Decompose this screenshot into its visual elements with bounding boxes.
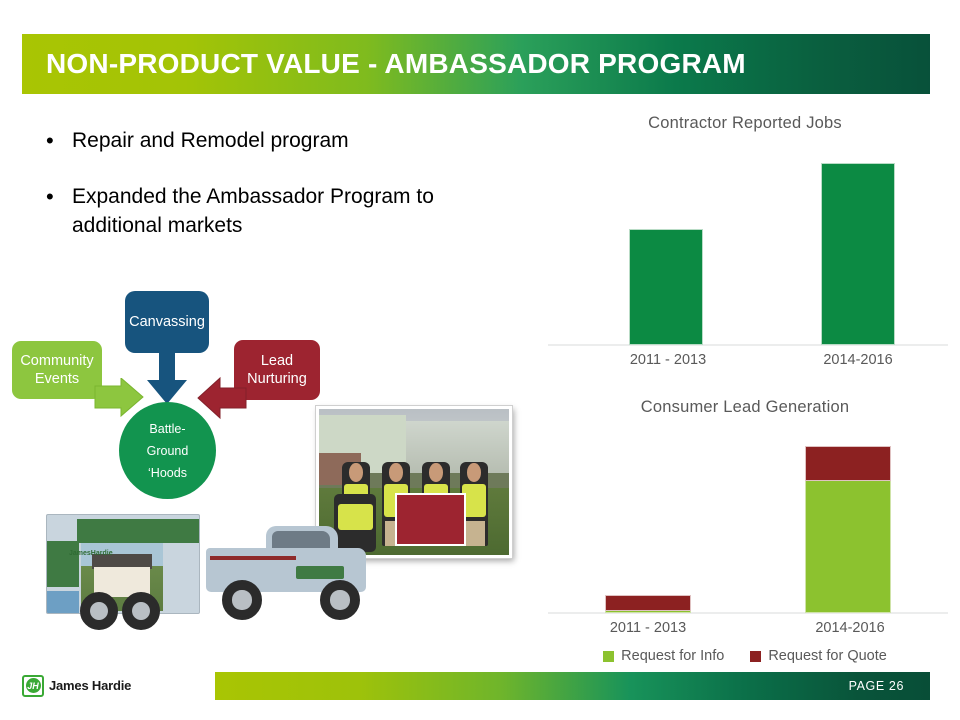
diagram-node-label: Canvassing	[129, 313, 205, 331]
chart-title: Consumer Lead Generation	[530, 398, 960, 417]
legend-item-request-for-info: Request for Info	[603, 648, 724, 664]
chart-axis-line	[548, 344, 948, 346]
center-label-line1: Battle-	[149, 418, 185, 440]
chart-axis-line	[548, 612, 948, 614]
bar-2014-2016	[822, 164, 894, 344]
slide-title-bar: NON-PRODUCT VALUE - AMBASSADOR PROGRAM	[22, 34, 930, 94]
bar-2011-2013-request-for-info	[606, 610, 690, 612]
x-tick-label: 2011 - 2013	[558, 620, 738, 636]
bullet-marker-icon: •	[40, 182, 72, 212]
bar-2011-2013-request-for-quote	[606, 596, 690, 610]
x-tick-label: 2011 - 2013	[578, 352, 758, 368]
truck-trailer-photo: JamesHardie	[38, 500, 383, 640]
legend-swatch-icon	[750, 651, 761, 662]
chart-title: Contractor Reported Jobs	[530, 114, 960, 133]
legend-label: Request for Info	[621, 648, 724, 664]
bullet-list: • Repair and Remodel program • Expanded …	[40, 126, 520, 266]
brand-name: James Hardie	[49, 678, 131, 693]
arrow-left-red-icon	[196, 376, 248, 420]
page-title: NON-PRODUCT VALUE - AMBASSADOR PROGRAM	[46, 48, 746, 80]
diagram-node-battleground-hoods: Battle- Ground ‘Hoods	[119, 402, 216, 499]
x-tick-label: 2014-2016	[760, 620, 940, 636]
chart-plot-area	[548, 146, 948, 346]
legend-label: Request for Quote	[768, 648, 887, 664]
bar-2011-2013	[630, 230, 702, 344]
list-item: • Expanded the Ambassador Program to add…	[40, 182, 520, 240]
legend-item-request-for-quote: Request for Quote	[750, 648, 887, 664]
chart-legend: Request for Info Request for Quote	[530, 648, 960, 664]
bullet-text: Repair and Remodel program	[72, 126, 349, 155]
bullet-text: Expanded the Ambassador Program to addit…	[72, 182, 520, 240]
footer-bar: PAGE 26	[215, 672, 930, 700]
chart-plot-area	[548, 428, 948, 614]
center-label-line3: ‘Hoods	[148, 462, 187, 484]
diagram-node-label: Lead Nurturing	[240, 352, 314, 388]
brand-logo: JH James Hardie	[22, 673, 131, 698]
chart-category-labels: 2011 - 2013 2014-2016	[548, 620, 948, 642]
list-item: • Repair and Remodel program	[40, 126, 520, 156]
james-hardie-mark-icon: JH	[22, 675, 44, 697]
diagram-node-label: Community Events	[18, 352, 96, 388]
legend-swatch-icon	[603, 651, 614, 662]
bullet-marker-icon: •	[40, 126, 72, 156]
chart-consumer-lead-generation: Consumer Lead Generation 2011 - 2013 201…	[530, 398, 960, 668]
diagram-node-canvassing: Canvassing	[125, 291, 209, 353]
logo-glyph: JH	[26, 678, 41, 693]
chart-contractor-reported-jobs: Contractor Reported Jobs 2011 - 2013 201…	[530, 114, 960, 374]
arrow-down-blue-icon	[143, 350, 191, 408]
x-tick-label: 2014-2016	[768, 352, 948, 368]
page-number: PAGE 26	[849, 679, 904, 693]
diagram-node-community-events: Community Events	[12, 341, 102, 399]
slide-canvas: NON-PRODUCT VALUE - AMBASSADOR PROGRAM •…	[0, 0, 960, 720]
bar-2014-2016-request-for-info	[806, 480, 890, 612]
bar-2014-2016-request-for-quote	[806, 447, 890, 480]
center-label-line2: Ground	[147, 440, 189, 462]
chart-category-labels: 2011 - 2013 2014-2016	[548, 352, 948, 374]
